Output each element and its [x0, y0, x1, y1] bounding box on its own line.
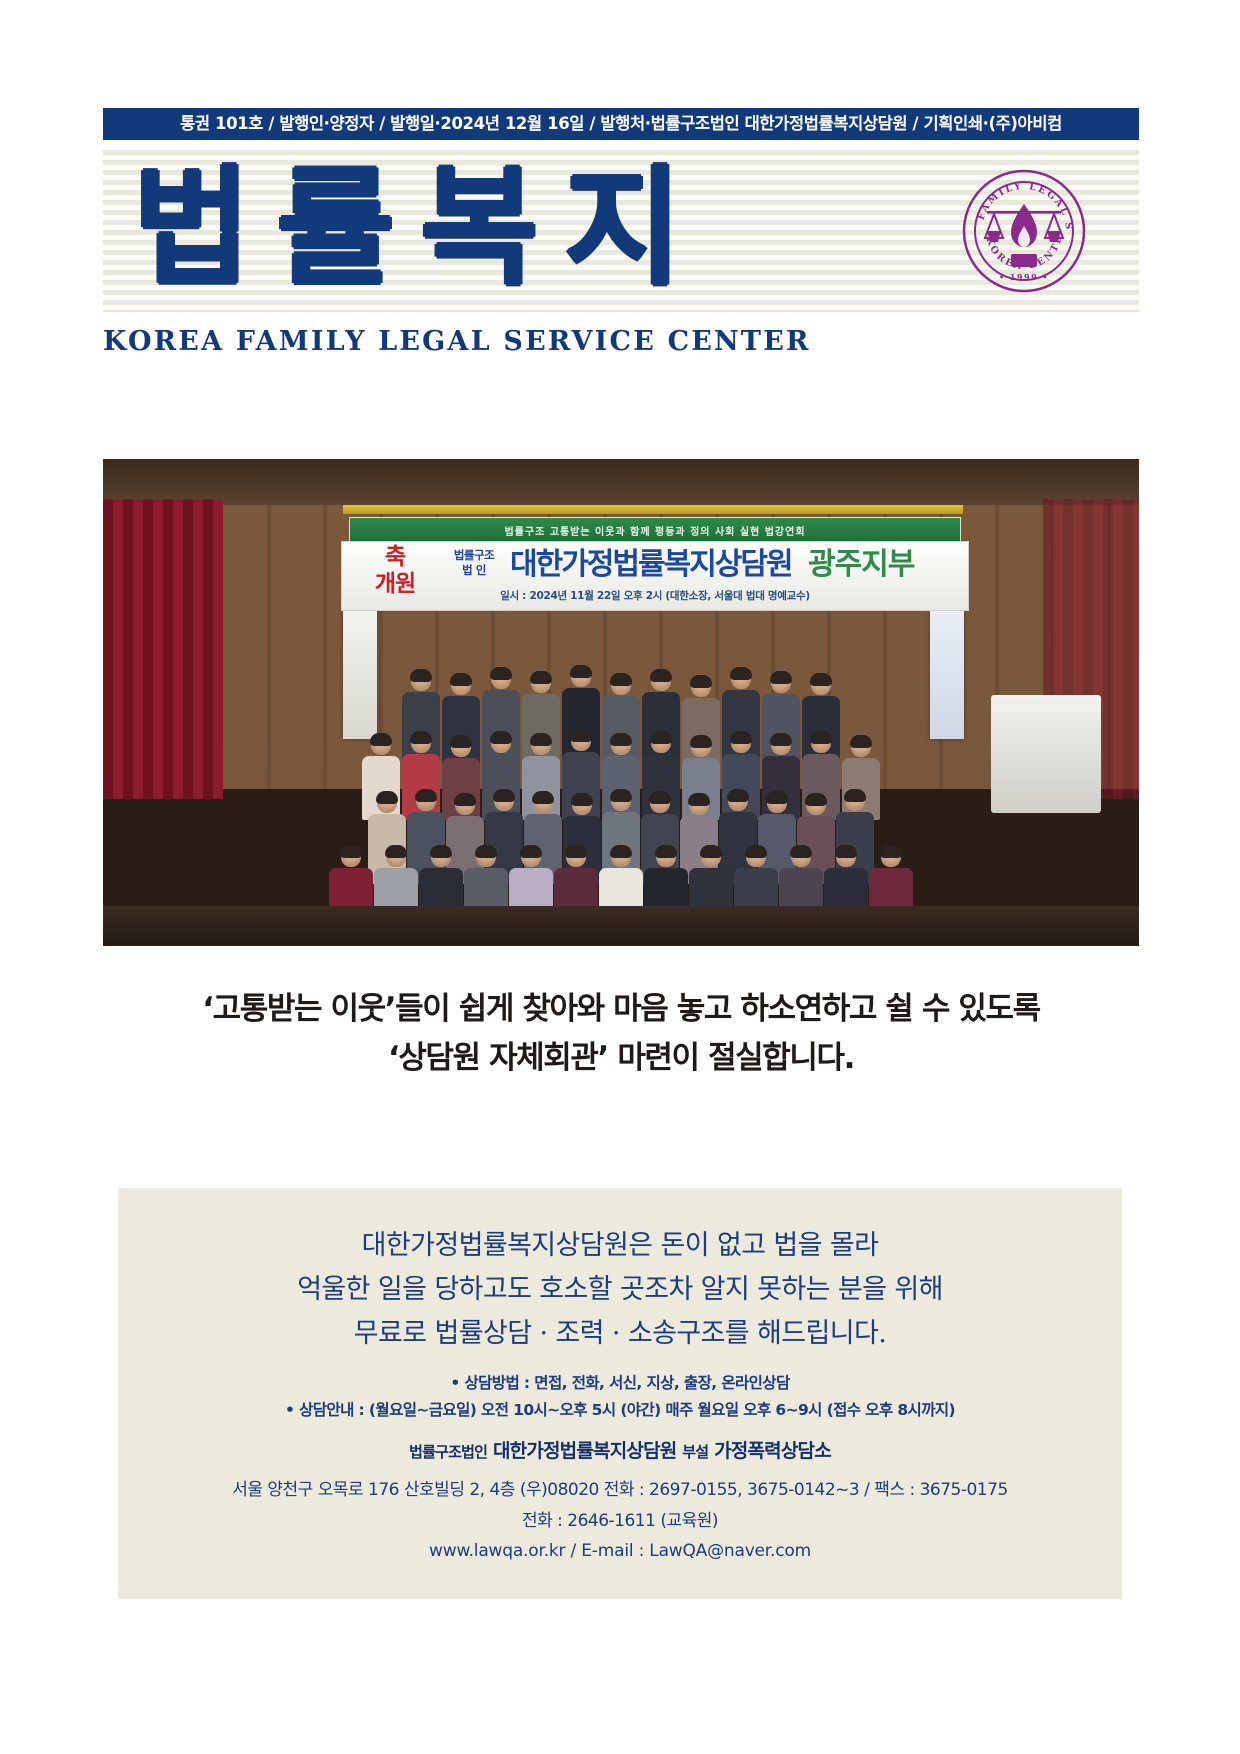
celebration-line-1: 축: [356, 544, 434, 571]
organization-seal-logo: FAMILY LEGAL SERVICE KOREA CENTER • 1999…: [961, 168, 1087, 294]
organization-info-box: 대한가정법률복지상담원은 돈이 없고 법을 몰라 억울한 일을 당하고도 호소할…: [118, 1188, 1122, 1599]
caption-line-2: ‘상담원 자체회관’ 마련이 절실합니다.: [103, 1034, 1139, 1083]
org-affiliation-label: 부설: [682, 1443, 708, 1461]
consultation-hours: • 상담안내 : (월요일~금요일) 오전 10시~오후 5시 (야간) 매주 …: [118, 1397, 1122, 1424]
consultation-methods: • 상담방법 : 면접, 전화, 서신, 지상, 출장, 온라인상담: [118, 1370, 1122, 1397]
photo-scene: 법률구조 고통받는 이웃과 함께 평등과 정의 사회 실현 법강연회 축 개원 …: [103, 459, 1139, 946]
caption-line-1: ‘고통받는 이웃’들이 쉽게 찾아와 마음 놓고 하소연하고 쉴 수 있도록: [103, 985, 1139, 1034]
banner-rail: [343, 505, 963, 514]
education-center-phone: 전화 : 2646-1611 (교육원): [118, 1506, 1122, 1537]
info-address-block: 서울 양천구 오목로 176 산호빌딩 2, 4층 (우)08020 전화 : …: [118, 1475, 1122, 1537]
info-lead-line-1: 대한가정법률복지상담원은 돈이 없고 법을 몰라: [118, 1224, 1122, 1268]
office-address: 서울 양천구 오목로 176 산호빌딩 2, 4층 (우)08020 전화 : …: [118, 1475, 1122, 1506]
org-affiliated-center: 가정폭력상담소: [714, 1440, 831, 1462]
org-prefix: 법률구조법인: [409, 1443, 487, 1461]
org-main-name: 대한가정법률복지상담원: [493, 1440, 676, 1462]
newsletter-page: 통권 101호 / 발행인·양정자 / 발행일·2024년 12월 16일 / …: [0, 0, 1240, 1754]
info-lead-line-2: 억울한 일을 당하고도 호소할 곳조차 알지 못하는 분을 위해: [118, 1268, 1122, 1312]
ceiling: [103, 459, 1139, 505]
banner-organization-name: 대한가정법률복지상담원: [510, 545, 792, 585]
info-bullets: • 상담방법 : 면접, 전화, 서신, 지상, 출장, 온라인상담 • 상담안…: [118, 1370, 1122, 1424]
info-lead-paragraph: 대한가정법률복지상담원은 돈이 없고 법을 몰라 억울한 일을 당하고도 호소할…: [118, 1224, 1122, 1356]
svg-text:• 1999 •: • 1999 •: [999, 272, 1049, 282]
page-title: 법률복지: [133, 150, 708, 312]
corporate-label-line-1: 법률구조: [438, 548, 510, 563]
stage-floor: [103, 906, 1139, 946]
issue-info-bar: 통권 101호 / 발행인·양정자 / 발행일·2024년 12월 16일 / …: [103, 108, 1139, 140]
info-lead-line-3: 무료로 법률상담 · 조력 · 소송구조를 해드립니다.: [118, 1312, 1122, 1356]
info-web-contact: www.lawqa.or.kr / E-mail : LawQA@naver.c…: [118, 1541, 1122, 1561]
scales-of-justice-seal-icon: FAMILY LEGAL SERVICE KOREA CENTER • 1999…: [961, 168, 1087, 294]
masthead: 통권 101호 / 발행인·양정자 / 발행일·2024년 12월 16일 / …: [103, 108, 1139, 357]
masthead-title-band: 법률복지 FAMILY LEGAL SERVICE KOREA CENTER •…: [103, 150, 1139, 312]
info-organization-line: 법률구조법인 대한가정법률복지상담원 부설 가정폭력상담소: [118, 1436, 1122, 1463]
green-banner-text: 법률구조 고통받는 이웃과 함께 평등과 정의 사회 실현 법강연회: [349, 517, 961, 543]
banner-branch-name: 광주지부: [808, 545, 914, 585]
white-opening-banner: 축 개원 법률구조 법 인 대한가정법률복지상담원 광주지부 일시 : 2024…: [341, 541, 969, 611]
page-subtitle-english: KOREA FAMILY LEGAL SERVICE CENTER: [103, 326, 1139, 357]
photo-caption: ‘고통받는 이웃’들이 쉽게 찾아와 마음 놓고 하소연하고 쉴 수 있도록 ‘…: [103, 985, 1139, 1083]
corporate-label: 법률구조 법 인: [438, 548, 510, 578]
corporate-label-line-2: 법 인: [438, 563, 510, 578]
banner-schedule: 일시 : 2024년 11월 22일 오후 2시 (대한소장, 서울대 법대 명…: [342, 588, 968, 603]
event-group-photo: 법률구조 고통받는 이웃과 함께 평등과 정의 사회 실현 법강연회 축 개원 …: [103, 459, 1139, 946]
